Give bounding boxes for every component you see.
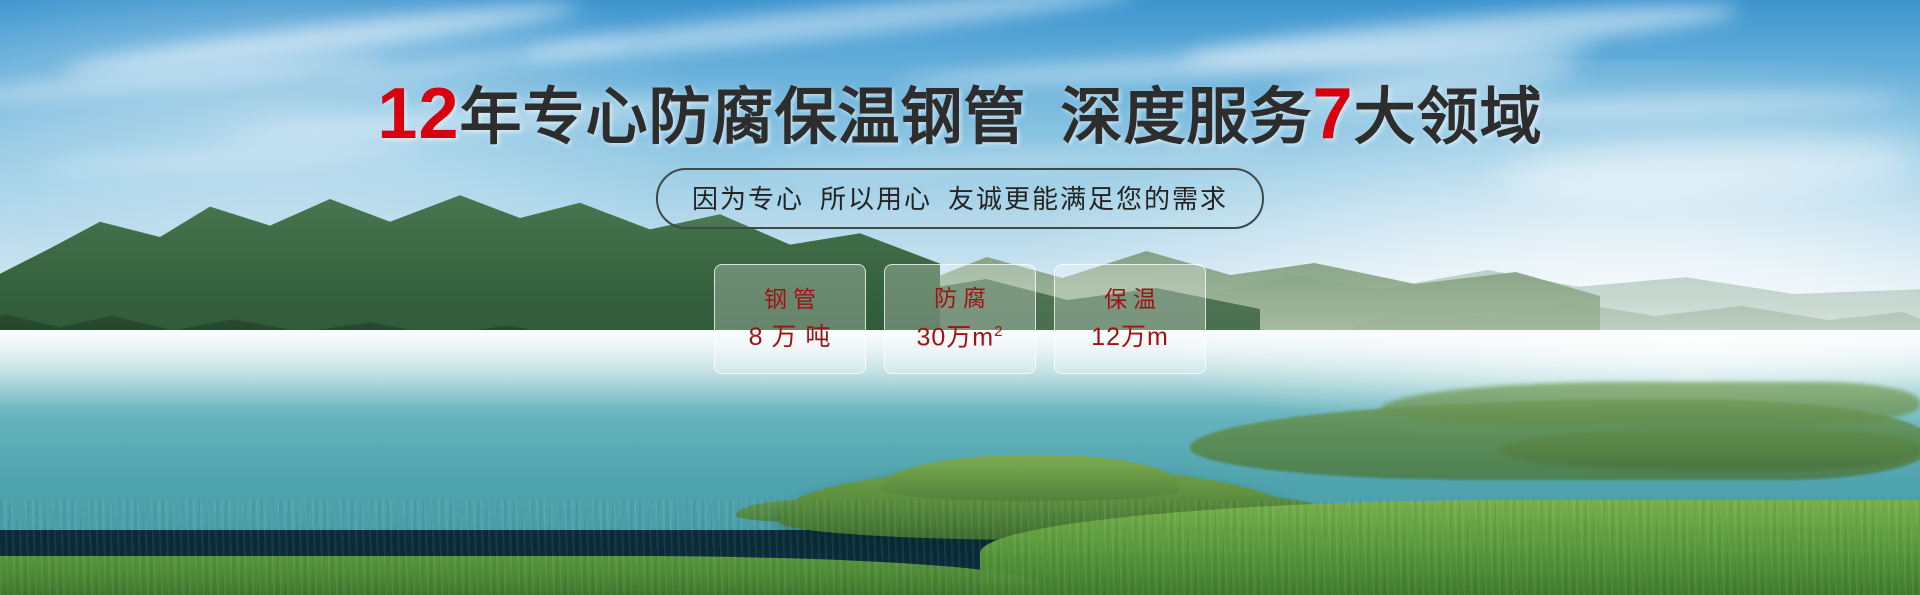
headline-years-number: 12 — [377, 74, 459, 154]
subtitle-segment-two: 所以用心 — [820, 184, 932, 214]
stat-card-value-text: 30万m — [917, 324, 995, 352]
stat-card-value: 8 万 吨 — [749, 325, 832, 350]
stat-card-value-exponent: 2 — [994, 323, 1003, 340]
stat-card-steel-pipe: 钢管 8 万 吨 — [714, 264, 866, 374]
hero-banner: 12年专心防腐保温钢管深度服务7大领域 因为专心所以用心友诚更能满足您的需求 钢… — [0, 0, 1920, 595]
headline-part-one: 年专心防腐保温钢管 — [460, 83, 1027, 152]
stat-card-value-text: 12万m — [1091, 323, 1169, 351]
stat-card-label: 钢管 — [758, 288, 822, 311]
subtitle-pill: 因为专心所以用心友诚更能满足您的需求 — [656, 168, 1264, 229]
stat-card-label: 保温 — [1098, 288, 1162, 311]
banner-content: 12年专心防腐保温钢管深度服务7大领域 因为专心所以用心友诚更能满足您的需求 钢… — [0, 0, 1920, 595]
headline: 12年专心防腐保温钢管深度服务7大领域 — [0, 78, 1920, 150]
subtitle-segment-one: 因为专心 — [692, 184, 804, 214]
stat-card-insulation: 保温 12万m — [1054, 264, 1206, 374]
stat-card-label: 防腐 — [928, 287, 992, 310]
subtitle-segment-three: 友诚更能满足您的需求 — [948, 184, 1228, 214]
stat-card-value: 12万m — [1091, 325, 1169, 350]
stat-cards: 钢管 8 万 吨 防腐 30万m2 保温 12万m — [714, 264, 1206, 374]
headline-fields-number: 7 — [1313, 74, 1354, 154]
headline-part-three: 大领域 — [1354, 83, 1543, 152]
headline-part-two: 深度服务 — [1061, 83, 1313, 152]
stat-card-anticorrosion: 防腐 30万m2 — [884, 264, 1036, 374]
stat-card-value-text: 8 万 吨 — [749, 323, 832, 351]
stat-card-value: 30万m2 — [917, 324, 1004, 350]
